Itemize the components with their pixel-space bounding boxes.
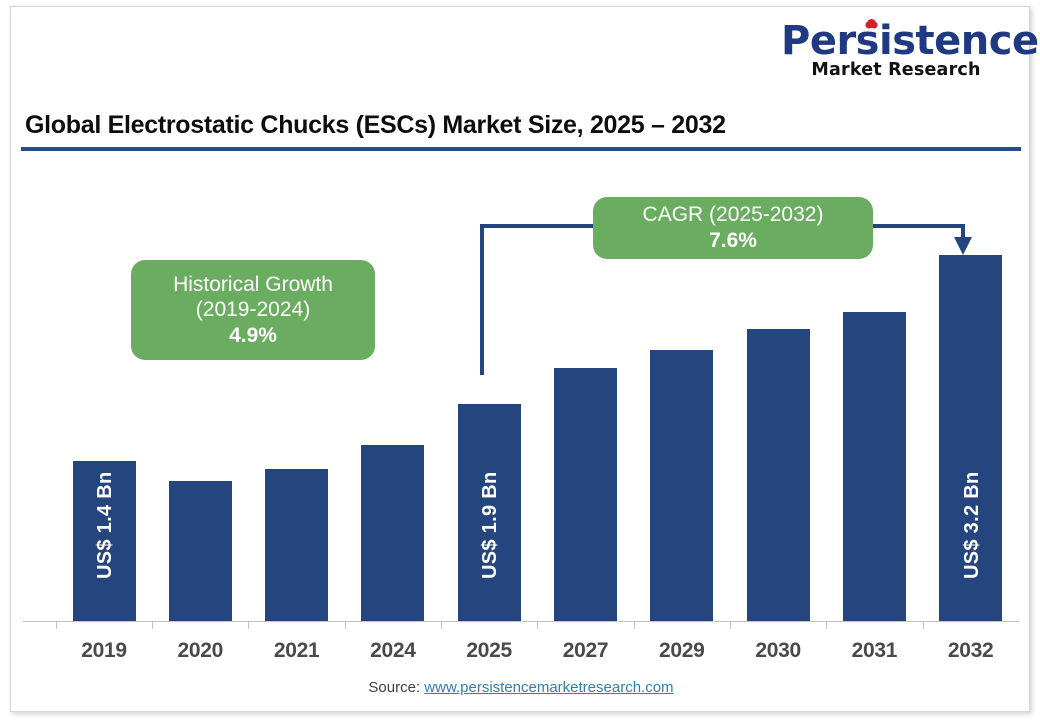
x-axis-label-2032: 2032 [923,639,1019,663]
bar-2024 [361,445,424,621]
x-tick-2029 [730,621,731,629]
x-axis-label-2031: 2031 [826,639,922,663]
bar-2031 [843,312,906,621]
x-axis-label-2029: 2029 [634,639,730,663]
x-axis-label-2020: 2020 [152,639,248,663]
x-axis-label-2025: 2025 [441,639,537,663]
bar-value-label-2019: US$ 1.4 Bn [94,472,117,579]
bar-value-label-2025: US$ 1.9 Bn [479,472,502,579]
cagr-callout: CAGR (2025-2032) 7.6% [593,197,873,259]
x-tick-2030 [826,621,827,629]
x-axis-label-2024: 2024 [345,639,441,663]
bar-2020 [169,481,232,621]
x-tick-2020 [248,621,249,629]
historical-callout-line2: (2019-2024) [196,297,310,323]
bar-2029 [650,350,713,621]
x-tick-2027 [634,621,635,629]
bar-chart: US$ 1.4 BnUS$ 1.9 BnUS$ 3.2 Bn 201920202… [11,7,1031,713]
x-tick-2024 [441,621,442,629]
x-axis-label-2021: 2021 [249,639,345,663]
chart-card: Persistence Market Research Global Elect… [10,6,1030,712]
bar-2030 [747,329,810,621]
x-axis-line [23,621,1019,622]
x-tick-2031 [923,621,924,629]
bar-value-label-2032: US$ 3.2 Bn [961,472,984,579]
x-axis-label-2019: 2019 [56,639,152,663]
historical-callout-line1: Historical Growth [173,272,333,298]
historical-callout-value: 4.9% [229,323,277,349]
cagr-callout-value: 7.6% [709,228,757,254]
x-axis-label-2030: 2030 [730,639,826,663]
x-tick-2021 [345,621,346,629]
bar-2021 [265,469,328,621]
x-tick-2025 [537,621,538,629]
bar-2027 [554,368,617,621]
source-line: Source: www.persistencemarketresearch.co… [11,679,1031,696]
source-link[interactable]: www.persistencemarketresearch.com [424,679,673,696]
cagr-callout-line1: CAGR (2025-2032) [643,202,824,228]
historical-growth-callout: Historical Growth (2019-2024) 4.9% [131,260,375,360]
x-tick-start [56,621,57,629]
x-tick-2019 [152,621,153,629]
source-prefix: Source: [368,679,424,696]
x-axis-label-2027: 2027 [538,639,634,663]
